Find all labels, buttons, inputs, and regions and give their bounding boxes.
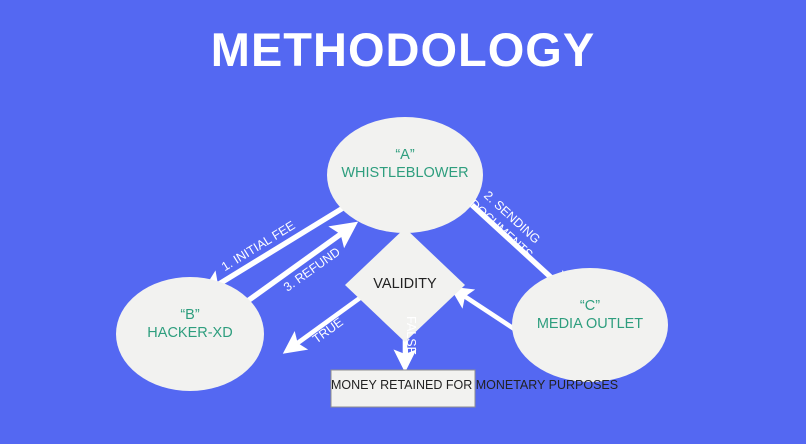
slide-canvas: METHODOLOGY “A” WHISTLEBLOWER “B” HACKER… bbox=[0, 0, 806, 444]
edge-label-false: FALSE bbox=[402, 316, 418, 355]
node-media-outlet[interactable] bbox=[512, 268, 668, 382]
node-money-retained-label: MONEY RETAINED FOR MONETARY PURPOSES bbox=[331, 377, 475, 393]
node-hacker-xd[interactable] bbox=[116, 277, 264, 391]
page-title: METHODOLOGY bbox=[0, 24, 806, 76]
money-retained-line-1: MONEY RETAINED FOR bbox=[331, 378, 472, 392]
node-whistleblower[interactable] bbox=[327, 117, 483, 233]
node-validity-label: VALIDITY bbox=[345, 276, 465, 292]
money-retained-line-2: MONETARY PURPOSES bbox=[476, 378, 618, 392]
